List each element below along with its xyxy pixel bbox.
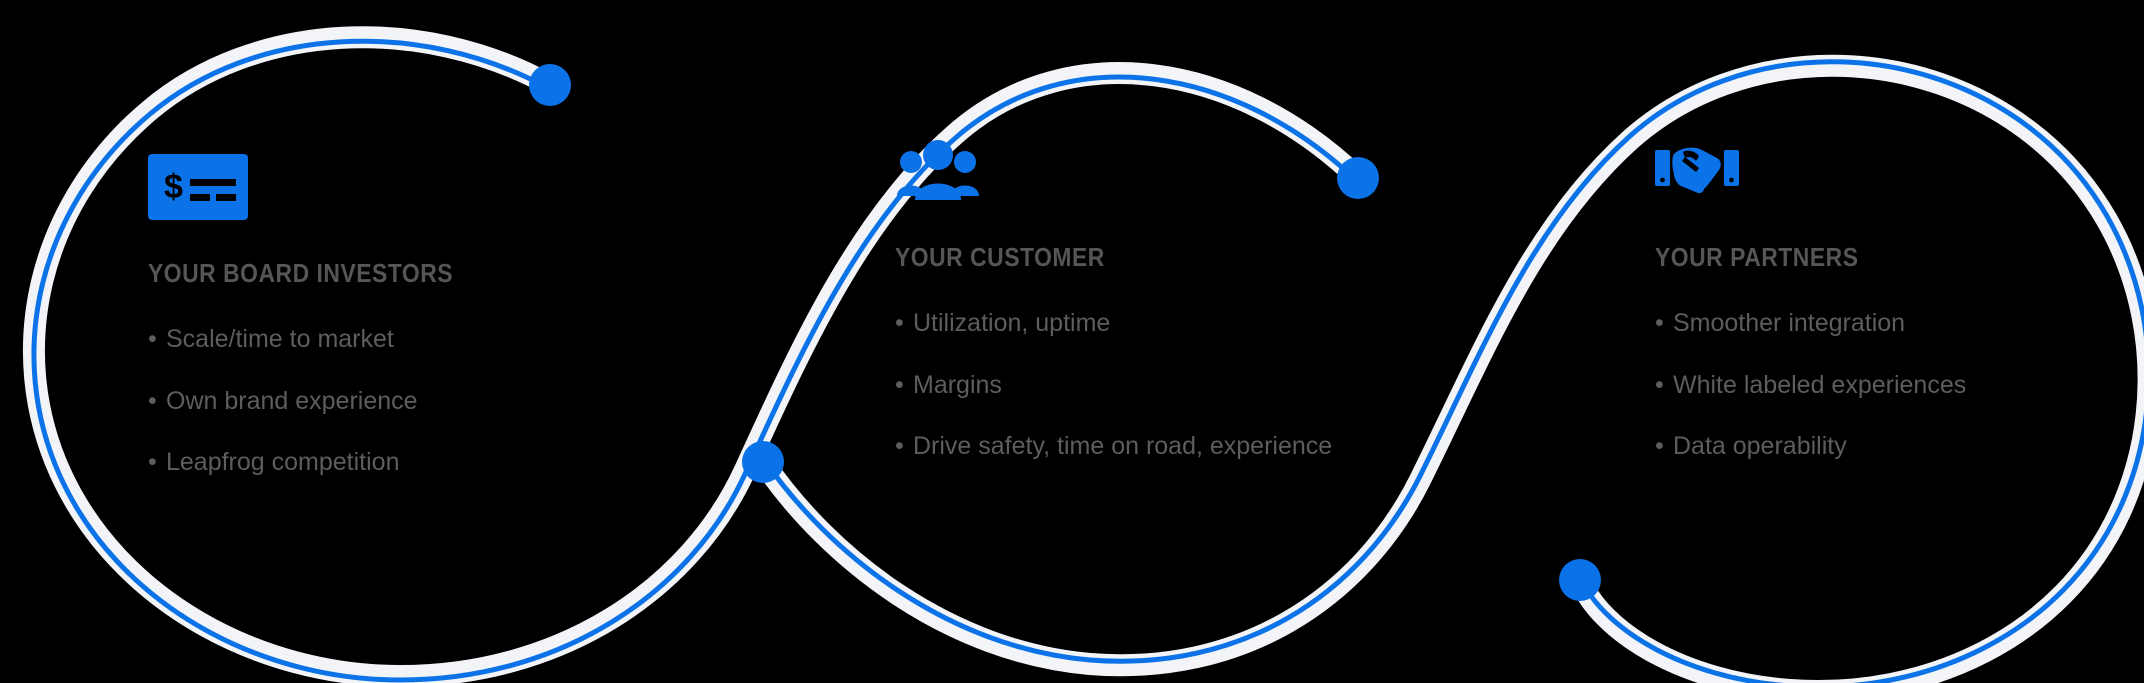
list-item: • Drive safety, time on road, experience — [895, 430, 1333, 463]
list-item: • Leapfrog competition — [148, 446, 586, 479]
bullet-glyph: • — [148, 385, 157, 418]
endpoint-dot-bottom-middle-loop — [742, 441, 784, 483]
list-item-label: Own brand experience — [166, 387, 418, 415]
people-group-icon — [895, 138, 1365, 200]
svg-text:$: $ — [164, 168, 183, 206]
list-item-label: White labeled experiences — [1673, 371, 1966, 399]
bullet-glyph: • — [1655, 369, 1664, 402]
list-item-label: Margins — [913, 371, 1002, 399]
endpoint-dot-top-left-loop — [529, 64, 571, 106]
bullet-glyph: • — [895, 430, 904, 463]
bullet-glyph: • — [148, 446, 157, 479]
list-item: • Own brand experience — [148, 385, 586, 418]
diagram-canvas: $ YOUR BOARD INVESTORS • Scale/time to m… — [0, 0, 2144, 683]
bullet-list-partners: • Smoother integration • White labeled e… — [1655, 307, 2135, 463]
list-item: • Margins — [895, 369, 1333, 402]
bullet-glyph: • — [1655, 307, 1664, 340]
column-partners: YOUR PARTNERS • Smoother integration • W… — [1655, 150, 2135, 463]
list-item-label: Drive safety, time on road, experience — [913, 432, 1332, 460]
list-item-label: Scale/time to market — [166, 325, 394, 353]
list-item: • Scale/time to market — [148, 323, 586, 356]
bullet-glyph: • — [1655, 430, 1664, 463]
list-item: • Utilization, uptime — [895, 307, 1333, 340]
endpoint-dot-bottom-right-loop — [1559, 559, 1601, 601]
column-heading-board-investors: YOUR BOARD INVESTORS — [148, 258, 562, 289]
bullet-glyph: • — [895, 307, 904, 340]
column-customer: YOUR CUSTOMER • Utilization, uptime • Ma… — [895, 150, 1365, 463]
bullet-list-customer: • Utilization, uptime • Margins • Drive … — [895, 307, 1365, 463]
list-item-label: Smoother integration — [1673, 309, 1905, 337]
list-item: • White labeled experiences — [1655, 369, 2093, 402]
bullet-glyph: • — [148, 323, 157, 356]
list-item: • Smoother integration — [1655, 307, 2093, 340]
list-item-label: Utilization, uptime — [913, 309, 1110, 337]
column-board-investors: $ YOUR BOARD INVESTORS • Scale/time to m… — [148, 150, 618, 479]
column-heading-customer: YOUR CUSTOMER — [895, 242, 1309, 273]
list-item-label: Data operability — [1673, 432, 1847, 460]
list-item: • Data operability — [1655, 430, 2093, 463]
column-heading-partners: YOUR PARTNERS — [1655, 242, 2077, 273]
bullet-glyph: • — [895, 369, 904, 402]
handshake-icon — [1655, 138, 2135, 200]
bullet-list-board-investors: • Scale/time to market • Own brand exper… — [148, 323, 618, 479]
list-item-label: Leapfrog competition — [166, 448, 399, 476]
check-money-icon: $ — [148, 154, 618, 216]
